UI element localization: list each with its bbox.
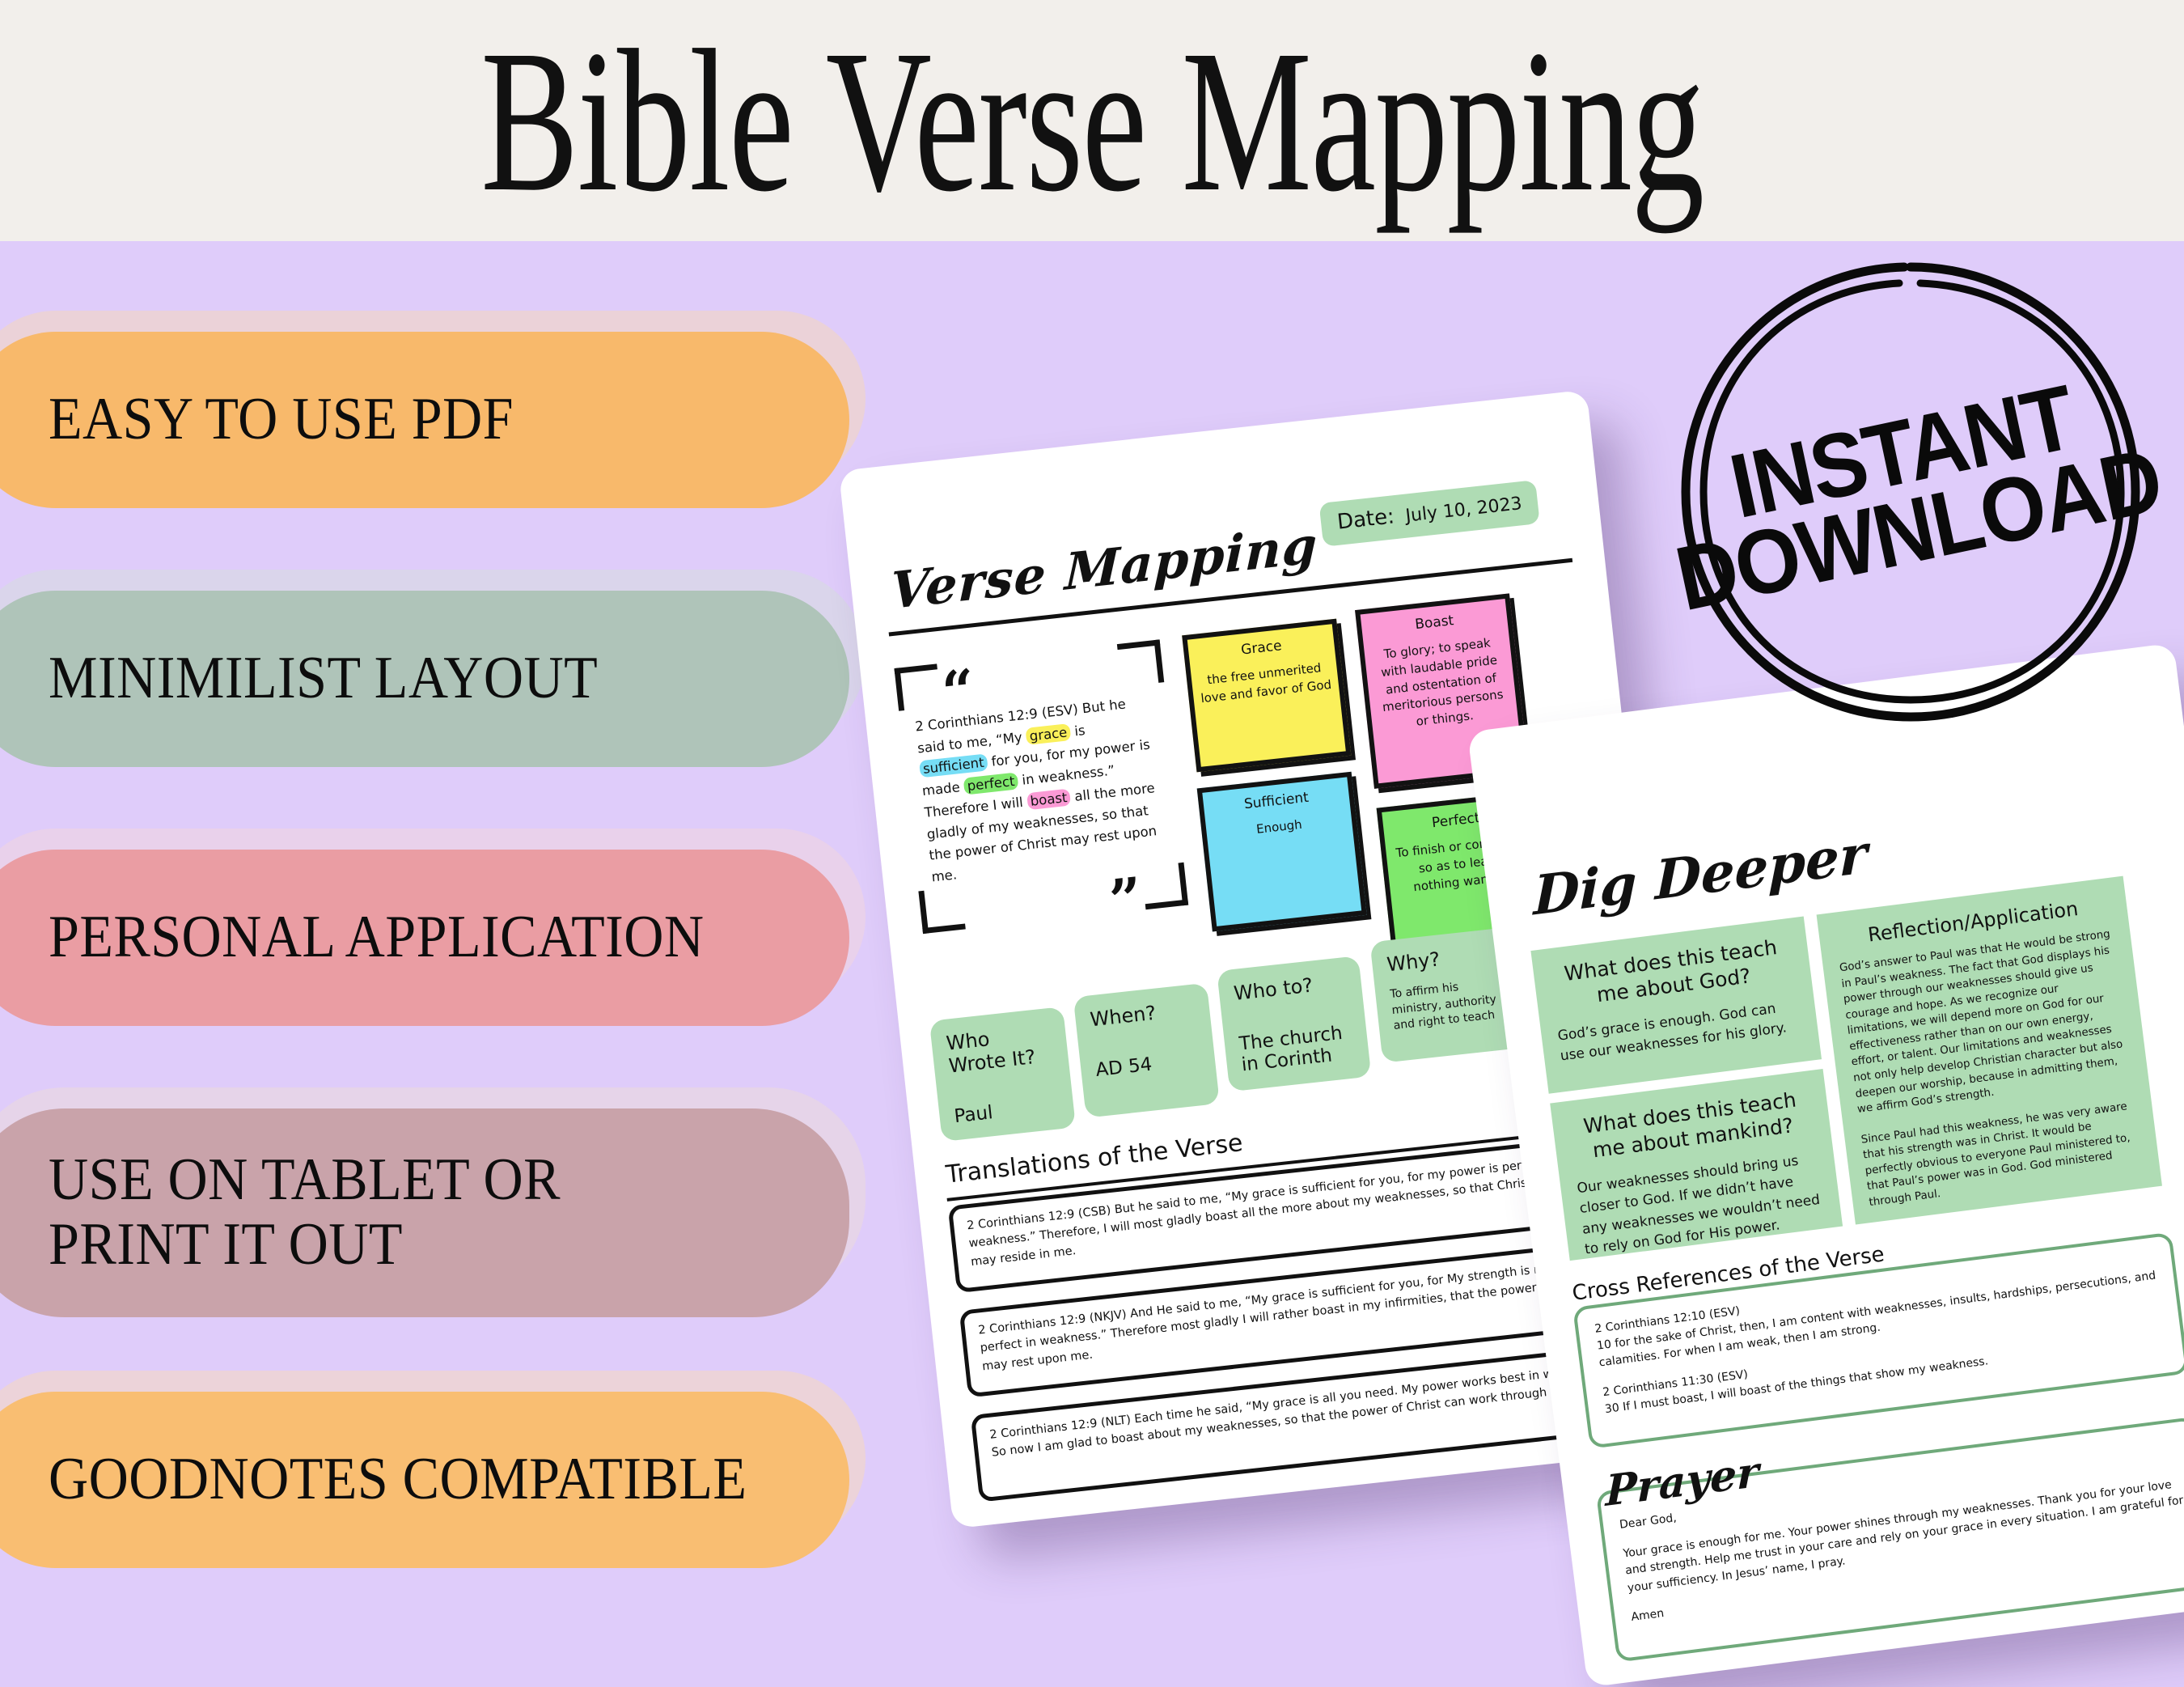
highlight-grace: grace: [1026, 723, 1072, 745]
quote-close-icon: ”: [1108, 881, 1145, 918]
bracket-top-left-icon: [894, 663, 941, 710]
date-field: Date: July 10, 2023: [1319, 480, 1541, 547]
verse-quote-block: “ ” 2 Corinthians 12:9 (ESV) But he said…: [894, 639, 1188, 934]
quote-open-icon: “: [941, 673, 977, 710]
stamp-text: INSTANT DOWNLOAD: [1623, 204, 2184, 780]
sticky-definition: Enough: [1213, 812, 1346, 843]
reflection-paragraph-2: Since Paul had this weakness, he was ver…: [1860, 1098, 2145, 1211]
highlight-sufficient: sufficient: [919, 754, 988, 778]
title-banner: Bible Verse Mapping: [0, 0, 2184, 241]
date-value: July 10, 2023: [1404, 494, 1522, 526]
card-answer: Our weaknesses should bring us closer to…: [1576, 1148, 1826, 1261]
bracket-bottom-right-icon: [1141, 863, 1188, 909]
verse-text: 2 Corinthians 12:9 (ESV) But he said to …: [914, 691, 1170, 888]
feature-label: MINIMILIST LAYOUT: [49, 646, 598, 711]
sticky-note-sufficient: Sufficient Enough: [1197, 772, 1367, 932]
feature-label: EASY TO USE PDF: [49, 388, 514, 452]
sticky-definition: To glory; to speak with laudable pride a…: [1370, 634, 1512, 735]
info-card-value: Paul: [953, 1095, 1060, 1127]
pill-body: GOODNOTES COMPATIBLE: [0, 1392, 849, 1568]
bracket-bottom-left-icon: [918, 887, 965, 934]
prayer-box: Dear God, Your grace is enough for me. Y…: [1596, 1417, 2184, 1663]
feature-pill-easy-to-use-pdf: EASY TO USE PDF: [0, 332, 849, 508]
info-card-value: The church in Corinth: [1238, 1022, 1356, 1076]
highlight-boast: boast: [1026, 788, 1072, 810]
sticky-title: Boast: [1368, 608, 1501, 638]
card-about-god: What does this teach me about God? God’s…: [1530, 917, 1822, 1094]
verse-mapping-heading: Verse Mapping: [890, 515, 1318, 621]
feature-pill-personal-application: PERSONAL APPLICATION: [0, 850, 849, 1026]
dig-deeper-heading: Dig Deeper: [1533, 822, 1867, 928]
info-card-who-wrote-it: Who Wrote It? Paul: [929, 1007, 1076, 1142]
info-card-title: Who Wrote It?: [945, 1021, 1054, 1078]
highlight-perfect: perfect: [963, 773, 1019, 795]
feature-pill-use-on-tablet-or-print: USE ON TABLET OR PRINT IT OUT: [0, 1108, 849, 1317]
info-card-when: When? AD 54: [1073, 983, 1220, 1118]
feature-pill-goodnotes-compatible: GOODNOTES COMPATIBLE: [0, 1392, 849, 1568]
card-about-mankind: What does this teach me about mankind? O…: [1550, 1069, 1843, 1261]
feature-label: GOODNOTES COMPATIBLE: [49, 1448, 747, 1512]
sticky-title: Sufficient: [1209, 786, 1343, 816]
info-card-value: To affirm his ministry, authority and ri…: [1390, 975, 1508, 1035]
info-card-value: AD 54: [1094, 1049, 1201, 1081]
info-card-title: Why?: [1386, 941, 1500, 976]
info-card-who-to: Who to? The church in Corinth: [1217, 956, 1371, 1091]
feature-label: PERSONAL APPLICATION: [49, 905, 705, 970]
info-card-title: When?: [1089, 997, 1196, 1031]
verse-part-2: is: [1069, 723, 1086, 740]
date-label: Date:: [1336, 504, 1396, 534]
pill-body: PERSONAL APPLICATION: [0, 850, 849, 1026]
card-reflection-application: Reflection/Application God’s answer to P…: [1817, 876, 2162, 1225]
sticky-definition: the free unmerited love and favor of God: [1197, 659, 1333, 708]
info-card-title: Who to?: [1233, 970, 1348, 1005]
reflection-paragraph-1: God’s answer to Paul was that He would b…: [1839, 926, 2133, 1118]
bracket-top-right-icon: [1117, 639, 1164, 686]
feature-pill-minimilist-layout: MINIMILIST LAYOUT: [0, 591, 849, 767]
page-title: Bible Verse Mapping: [306, 0, 1878, 241]
feature-label: USE ON TABLET OR PRINT IT OUT: [49, 1148, 561, 1278]
instant-download-badge: INSTANT DOWNLOAD: [1668, 249, 2153, 735]
pill-body: USE ON TABLET OR PRINT IT OUT: [0, 1108, 849, 1317]
pill-body: MINIMILIST LAYOUT: [0, 591, 849, 767]
sticky-title: Grace: [1195, 633, 1328, 663]
dig-deeper-page: Dig Deeper What does this teach me about…: [1467, 643, 2184, 1687]
pill-body: EASY TO USE PDF: [0, 332, 849, 508]
sticky-note-grace: Grace the free unmerited love and favor …: [1182, 619, 1351, 773]
